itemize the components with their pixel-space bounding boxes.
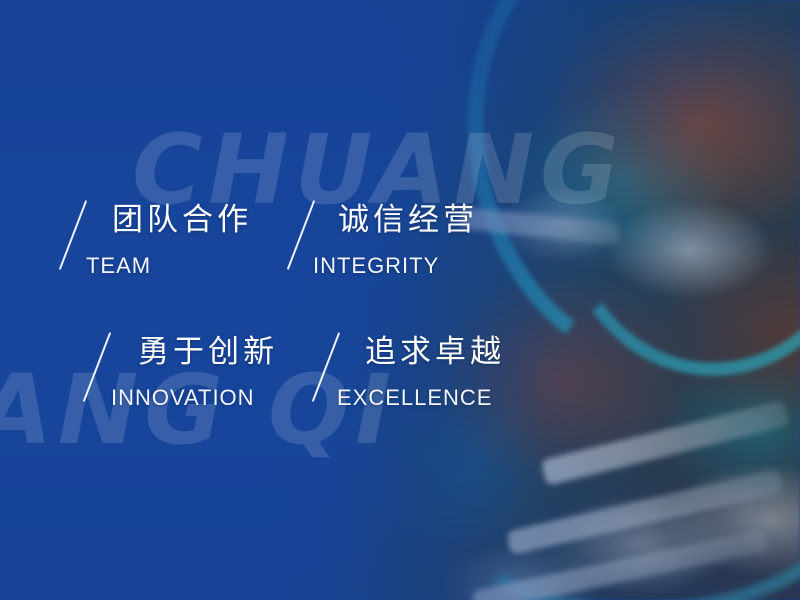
value-title-zh: 勇于创新 [138,337,278,368]
company-values-banner: CHUANG ANG QI 团队合作 TEAM 诚信经营 INTEGRITY 勇… [0,0,800,600]
value-title-zh: 诚信经营 [338,205,478,236]
value-title-en: INNOVATION [111,387,255,409]
value-title-en: TEAM [86,255,151,277]
slash-divider-icon [312,332,340,402]
value-title-en: INTEGRITY [313,255,439,277]
slash-divider-icon [83,332,111,402]
value-title-zh: 团队合作 [112,205,252,236]
values-grid: 团队合作 TEAM 诚信经营 INTEGRITY 勇于创新 INNOVATION… [0,0,800,600]
value-title-zh: 追求卓越 [365,337,505,368]
slash-divider-icon [287,200,315,270]
value-title-en: EXCELLENCE [337,387,492,409]
slash-divider-icon [59,200,87,270]
